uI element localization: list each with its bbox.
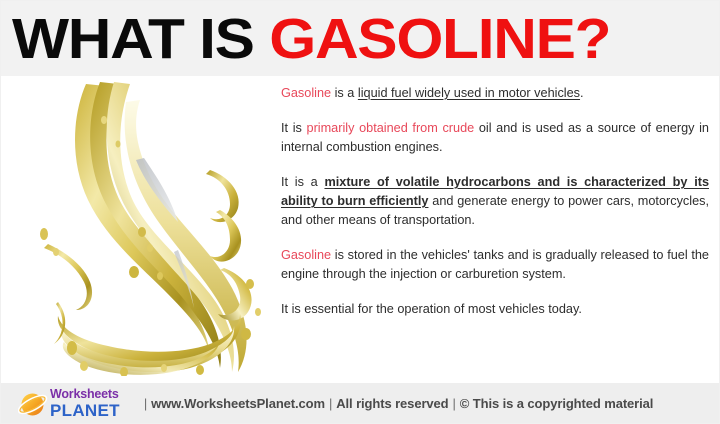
splash-droplet bbox=[138, 227, 146, 237]
poster-page: WHAT IS GASOLINE? bbox=[0, 0, 720, 424]
paragraph-3: It is a mixture of volatile hydrocarbons… bbox=[281, 173, 709, 230]
text-run: is stored in the vehicles' tanks and is … bbox=[281, 248, 709, 281]
worksheets-planet-logo[interactable]: Worksheets PLANET bbox=[18, 387, 120, 421]
paragraph-2: It is primarily obtained from crude oil … bbox=[281, 119, 709, 157]
paragraph-1: Gasoline is a liquid fuel widely used in… bbox=[281, 84, 709, 103]
logo-wordmark: Worksheets PLANET bbox=[50, 388, 120, 419]
text-run: is a bbox=[331, 86, 358, 100]
copyright-icon: © bbox=[460, 396, 469, 411]
splash-droplet bbox=[40, 228, 48, 240]
gasoline-splash-illustration bbox=[14, 76, 272, 376]
footer-bar: Worksheets PLANET |www.WorksheetsPlanet.… bbox=[0, 383, 720, 424]
footer-rights: All rights reserved bbox=[336, 396, 448, 411]
splash-droplet bbox=[129, 266, 139, 278]
splash-droplet bbox=[241, 328, 251, 340]
separator: | bbox=[325, 396, 336, 411]
splash-droplet bbox=[246, 279, 254, 289]
splash-droplet bbox=[116, 141, 121, 148]
splash-droplet bbox=[255, 308, 261, 316]
separator: | bbox=[140, 396, 151, 411]
splash-droplet bbox=[157, 272, 163, 280]
splash-hook-right-mid bbox=[210, 210, 241, 262]
logo-worksheets-text: Worksheets bbox=[50, 388, 120, 401]
title-band: WHAT IS GASOLINE? bbox=[0, 0, 720, 76]
paragraph-5: It is essential for the operation of mos… bbox=[281, 300, 709, 319]
text-run: It is bbox=[281, 121, 307, 135]
splash-droplet bbox=[161, 364, 167, 372]
page-title: WHAT IS GASOLINE? bbox=[12, 8, 720, 70]
text-run: . bbox=[580, 86, 584, 100]
splash-tendril-left bbox=[44, 244, 92, 310]
paragraph-4: Gasoline is stored in the vehicles' tank… bbox=[281, 246, 709, 284]
splash-droplet bbox=[101, 116, 107, 124]
splash-droplet bbox=[147, 244, 153, 252]
splash-droplet bbox=[80, 361, 88, 371]
title-red-part: GASOLINE? bbox=[269, 7, 610, 71]
keyword-gasoline: Gasoline bbox=[281, 248, 331, 262]
text-run: It is essential for the operation of mos… bbox=[281, 302, 582, 316]
splash-droplet bbox=[53, 248, 59, 256]
footer-copyright-phrase: This is a copyrighted material bbox=[473, 396, 654, 411]
gasoline-splash-svg bbox=[14, 76, 272, 376]
splash-droplet bbox=[196, 365, 204, 375]
text-run: It is a bbox=[281, 175, 324, 189]
separator: | bbox=[449, 396, 460, 411]
splash-droplet bbox=[67, 341, 77, 355]
title-black-part: WHAT IS bbox=[12, 7, 269, 71]
footer-website[interactable]: www.WorksheetsPlanet.com bbox=[151, 396, 325, 411]
underlined-phrase: liquid fuel widely used in motor vehicle… bbox=[358, 86, 580, 100]
highlighted-phrase: primarily obtained from crude bbox=[307, 121, 475, 135]
keyword-gasoline: Gasoline bbox=[281, 86, 331, 100]
planet-icon bbox=[18, 389, 48, 419]
article-body: Gasoline is a liquid fuel widely used in… bbox=[281, 84, 709, 319]
footer-credits: |www.WorksheetsPlanet.com|All rights res… bbox=[140, 396, 653, 411]
logo-planet-text: PLANET bbox=[50, 402, 120, 419]
